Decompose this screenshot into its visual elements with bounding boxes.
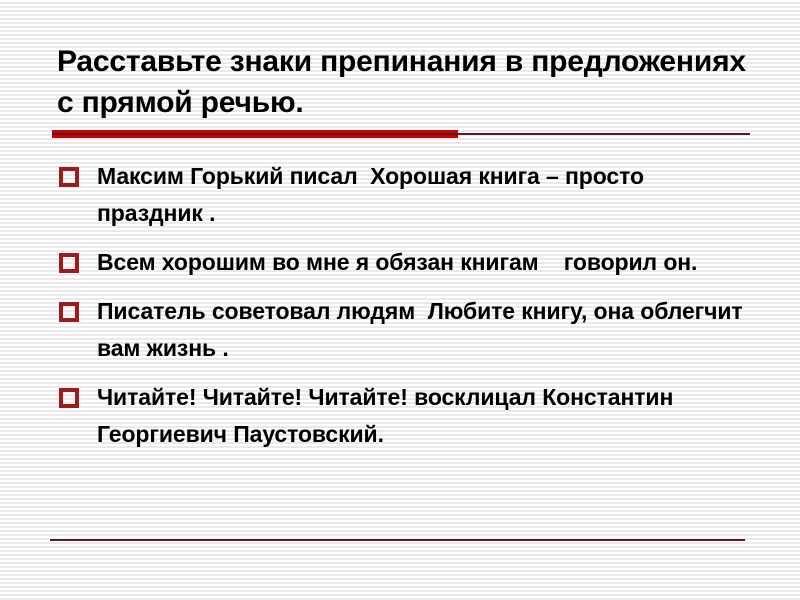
divider-thin-rule xyxy=(52,133,750,135)
list-item: Всем хорошим во мне я обязан книгам гово… xyxy=(52,244,752,281)
title-block: Расставьте знаки препинания в предложени… xyxy=(57,41,757,123)
list-item-label: Максим Горький писал Хорошая книга – про… xyxy=(97,158,752,232)
bullet-list: Максим Горький писал Хорошая книга – про… xyxy=(52,158,752,465)
title-divider xyxy=(52,129,750,139)
hollow-square-bullet-icon xyxy=(59,302,79,322)
list-item-label: Писатель советовал людям Любите книгу, о… xyxy=(97,293,752,367)
hollow-square-bullet-icon xyxy=(59,167,79,187)
hollow-square-bullet-icon xyxy=(59,388,79,408)
footer-rule xyxy=(50,539,745,541)
slide-canvas: Расставьте знаки препинания в предложени… xyxy=(0,0,800,600)
hollow-square-bullet-icon xyxy=(59,253,79,273)
list-item: Максим Горький писал Хорошая книга – про… xyxy=(52,158,752,232)
list-item-label: Всем хорошим во мне я обязан книгам гово… xyxy=(97,244,752,281)
list-item: Писатель советовал людям Любите книгу, о… xyxy=(52,293,752,367)
page-title: Расставьте знаки препинания в предложени… xyxy=(57,41,757,123)
list-item-label: Читайте! Читайте! Читайте! восклицал Кон… xyxy=(97,379,752,453)
list-item: Читайте! Читайте! Читайте! восклицал Кон… xyxy=(52,379,752,453)
